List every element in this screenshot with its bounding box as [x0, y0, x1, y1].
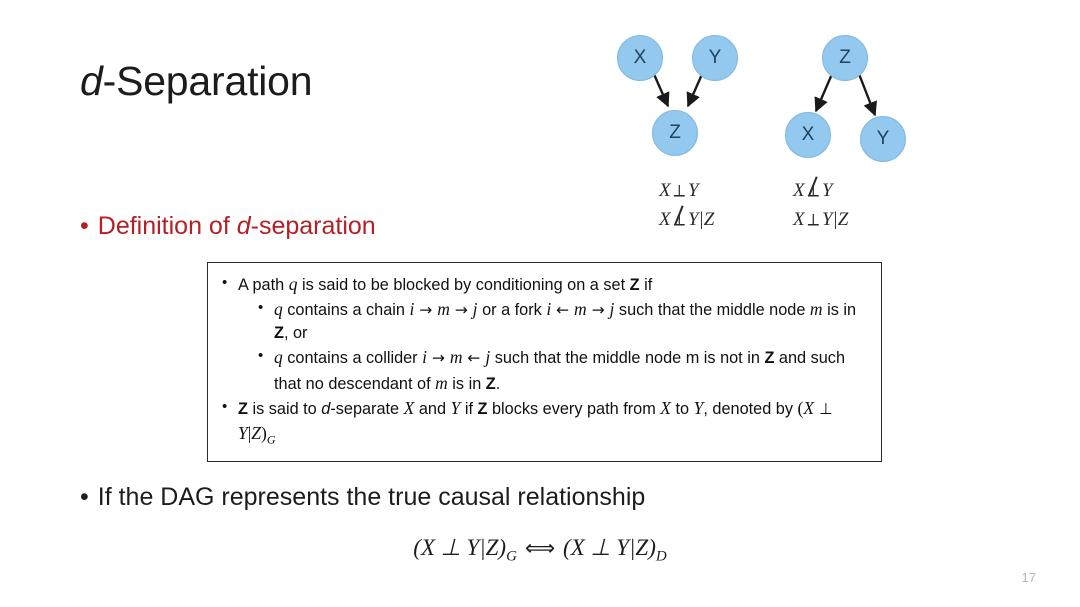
- not-independent-symbol: ⟂: [671, 207, 688, 233]
- node-z-label: Z: [669, 122, 681, 144]
- definition-text-run: Y: [451, 398, 461, 418]
- bullet-dot-icon: •: [222, 272, 238, 294]
- definition-text-run: Z: [251, 423, 261, 443]
- edge-y-to-z: [688, 72, 703, 106]
- definition-bullet-text: Z is said to d-separate X and Y if Z blo…: [238, 396, 871, 448]
- definition-textbox: •A path q is said to be blocked by condi…: [207, 262, 882, 462]
- node-y-label: Y: [877, 128, 890, 150]
- definition-text-run: X: [660, 398, 671, 418]
- node-x: X: [785, 112, 831, 158]
- independence-line: X⟂Y|Z: [659, 205, 714, 234]
- definition-text-run: →: [427, 349, 450, 367]
- definition-text-run: -separate: [330, 400, 403, 418]
- definition-text-run: Z: [764, 349, 774, 367]
- var-y: Y: [822, 180, 833, 201]
- edge-z-to-x: [816, 74, 832, 111]
- definition-text-run: Z: [274, 324, 284, 342]
- definition-text-run: Z: [630, 276, 640, 294]
- node-z-label: Z: [839, 47, 851, 69]
- definition-text-run: .: [496, 375, 501, 393]
- bullet-dot-icon: •: [80, 214, 89, 239]
- definition-text-run: , denoted by: [703, 400, 797, 418]
- definition-text-run: m: [450, 347, 463, 367]
- definition-text-run: if: [460, 400, 477, 418]
- bottom-equivalence-formula: (X ⊥ Y|Z)G⟺(X ⊥ Y|Z)D: [0, 535, 1080, 566]
- slide-canvas: d-Separation X Y Z: [0, 0, 1080, 607]
- bullet-dot-icon: •: [222, 396, 238, 418]
- definition-text-run: →: [414, 301, 437, 319]
- definition-text-run: X: [404, 398, 415, 418]
- page-title-italic-d: d: [80, 58, 103, 104]
- formula-left: (X ⊥ Y|Z): [413, 535, 506, 560]
- not-independent-symbol: ⟂: [805, 178, 822, 204]
- definition-bullet-level-1: •Z is said to d-separate X and Y if Z bl…: [222, 396, 871, 448]
- formula-right-subscript: D: [656, 549, 667, 565]
- definition-bullet-text: A path q is said to be blocked by condit…: [238, 272, 871, 297]
- fork-independence-statements: X⟂Y X⟂Y|Z: [793, 176, 848, 235]
- definition-text-run: ⊥: [814, 400, 832, 418]
- definition-text-run: m: [810, 299, 823, 319]
- bullet-definition-italic-d: d: [237, 212, 251, 240]
- var-x: X: [659, 209, 671, 230]
- definition-text-run: Z: [486, 375, 496, 393]
- definition-text-run: Y: [238, 423, 248, 443]
- definition-text-run: Z: [478, 400, 488, 418]
- definition-text-run: to: [671, 400, 694, 418]
- definition-text-run: is said to: [248, 400, 321, 418]
- var-x: X: [793, 209, 805, 230]
- node-y: Y: [692, 35, 738, 81]
- bullet-dag-label: If the DAG represents the true causal re…: [98, 483, 646, 512]
- var-x: X: [659, 180, 671, 201]
- bullet-dot-icon: •: [80, 485, 89, 510]
- condition: |Z: [699, 209, 715, 230]
- definition-text-run: ←: [462, 349, 485, 367]
- definition-bullet-text: q contains a chain i → m → j or a fork i…: [274, 297, 871, 345]
- page-title: d-Separation: [80, 58, 312, 105]
- condition: |Z: [833, 209, 849, 230]
- var-y: Y: [688, 209, 699, 230]
- node-x: X: [617, 35, 663, 81]
- definition-text-run: contains a chain: [283, 301, 410, 319]
- definition-text-run: is in: [823, 301, 856, 319]
- definition-text-run: , or: [284, 324, 308, 342]
- definition-text-run: is said to be blocked by conditioning on…: [297, 276, 629, 294]
- definition-text-run: m: [435, 373, 448, 393]
- node-z: Z: [822, 35, 868, 81]
- definition-text-run: such that the middle node m is not in: [490, 349, 764, 367]
- node-x-label: X: [802, 124, 815, 146]
- definition-text-run: if: [640, 276, 653, 294]
- definition-text-run: such that the middle node: [614, 301, 810, 319]
- independence-line: X⟂Y: [659, 176, 714, 205]
- bullet-dag-true-causal: • If the DAG represents the true causal …: [80, 483, 645, 512]
- definition-text-run: ←: [551, 301, 574, 319]
- collider-independence-statements: X⟂Y X⟂Y|Z: [659, 176, 714, 235]
- fork-graph: Z X Y: [778, 24, 923, 169]
- definition-text-run: blocks every path from: [487, 400, 660, 418]
- node-z: Z: [652, 110, 698, 156]
- definition-text-run: q: [274, 347, 283, 367]
- formula-left-subscript: G: [506, 549, 517, 565]
- formula-right: (X ⊥ Y|Z): [563, 535, 656, 560]
- node-y-label: Y: [709, 47, 722, 69]
- bullet-definition-of-d-separation: • Definition of d-separation: [80, 212, 376, 241]
- independent-symbol: ⟂: [671, 181, 688, 201]
- bullet-definition-text-before: Definition of: [98, 212, 237, 240]
- definition-text-run: is in: [448, 375, 486, 393]
- definition-text-run: X: [803, 398, 814, 418]
- definition-text-run: contains a collider: [283, 349, 422, 367]
- independence-line: X⟂Y|Z: [793, 205, 848, 234]
- var-y: Y: [688, 180, 699, 201]
- node-y: Y: [860, 116, 906, 162]
- collider-graph: X Y Z: [608, 24, 748, 164]
- independence-line: X⟂Y: [793, 176, 848, 205]
- edge-x-to-z: [653, 72, 668, 106]
- definition-text-run: or a fork: [478, 301, 547, 319]
- definition-bullet-level-2: •q contains a collider i → m ← j such th…: [258, 345, 871, 395]
- definition-text-run: q: [274, 299, 283, 319]
- biconditional-icon: ⟺: [517, 536, 563, 560]
- var-y: Y: [822, 209, 833, 230]
- slide-number: 17: [1022, 570, 1036, 585]
- bullet-dot-icon: •: [258, 297, 274, 319]
- definition-bullet-level-2: •q contains a chain i → m → j or a fork …: [258, 297, 871, 345]
- definition-text-run: and: [414, 400, 450, 418]
- node-x-label: X: [634, 47, 647, 69]
- definition-text-run: m: [574, 299, 587, 319]
- definition-bullet-text: q contains a collider i → m ← j such tha…: [274, 345, 871, 395]
- page-title-rest: -Separation: [103, 58, 313, 104]
- bullet-dot-icon: •: [258, 345, 274, 367]
- edge-z-to-y: [859, 74, 875, 115]
- definition-bullet-level-1: •A path q is said to be blocked by condi…: [222, 272, 871, 297]
- definition-text-run: →: [450, 301, 473, 319]
- independent-symbol: ⟂: [805, 210, 822, 230]
- definition-text-run: Z: [238, 400, 248, 418]
- definition-text-run: m: [437, 299, 450, 319]
- definition-text-run: A path: [238, 276, 289, 294]
- bullet-definition-label: Definition of d-separation: [98, 212, 376, 241]
- var-x: X: [793, 180, 805, 201]
- definition-text-run: d: [321, 400, 330, 418]
- bullet-definition-text-after: -separation: [251, 212, 376, 240]
- definition-text-run: →: [587, 301, 610, 319]
- definition-text-run: G: [267, 432, 276, 446]
- definition-text-run: Y: [694, 398, 704, 418]
